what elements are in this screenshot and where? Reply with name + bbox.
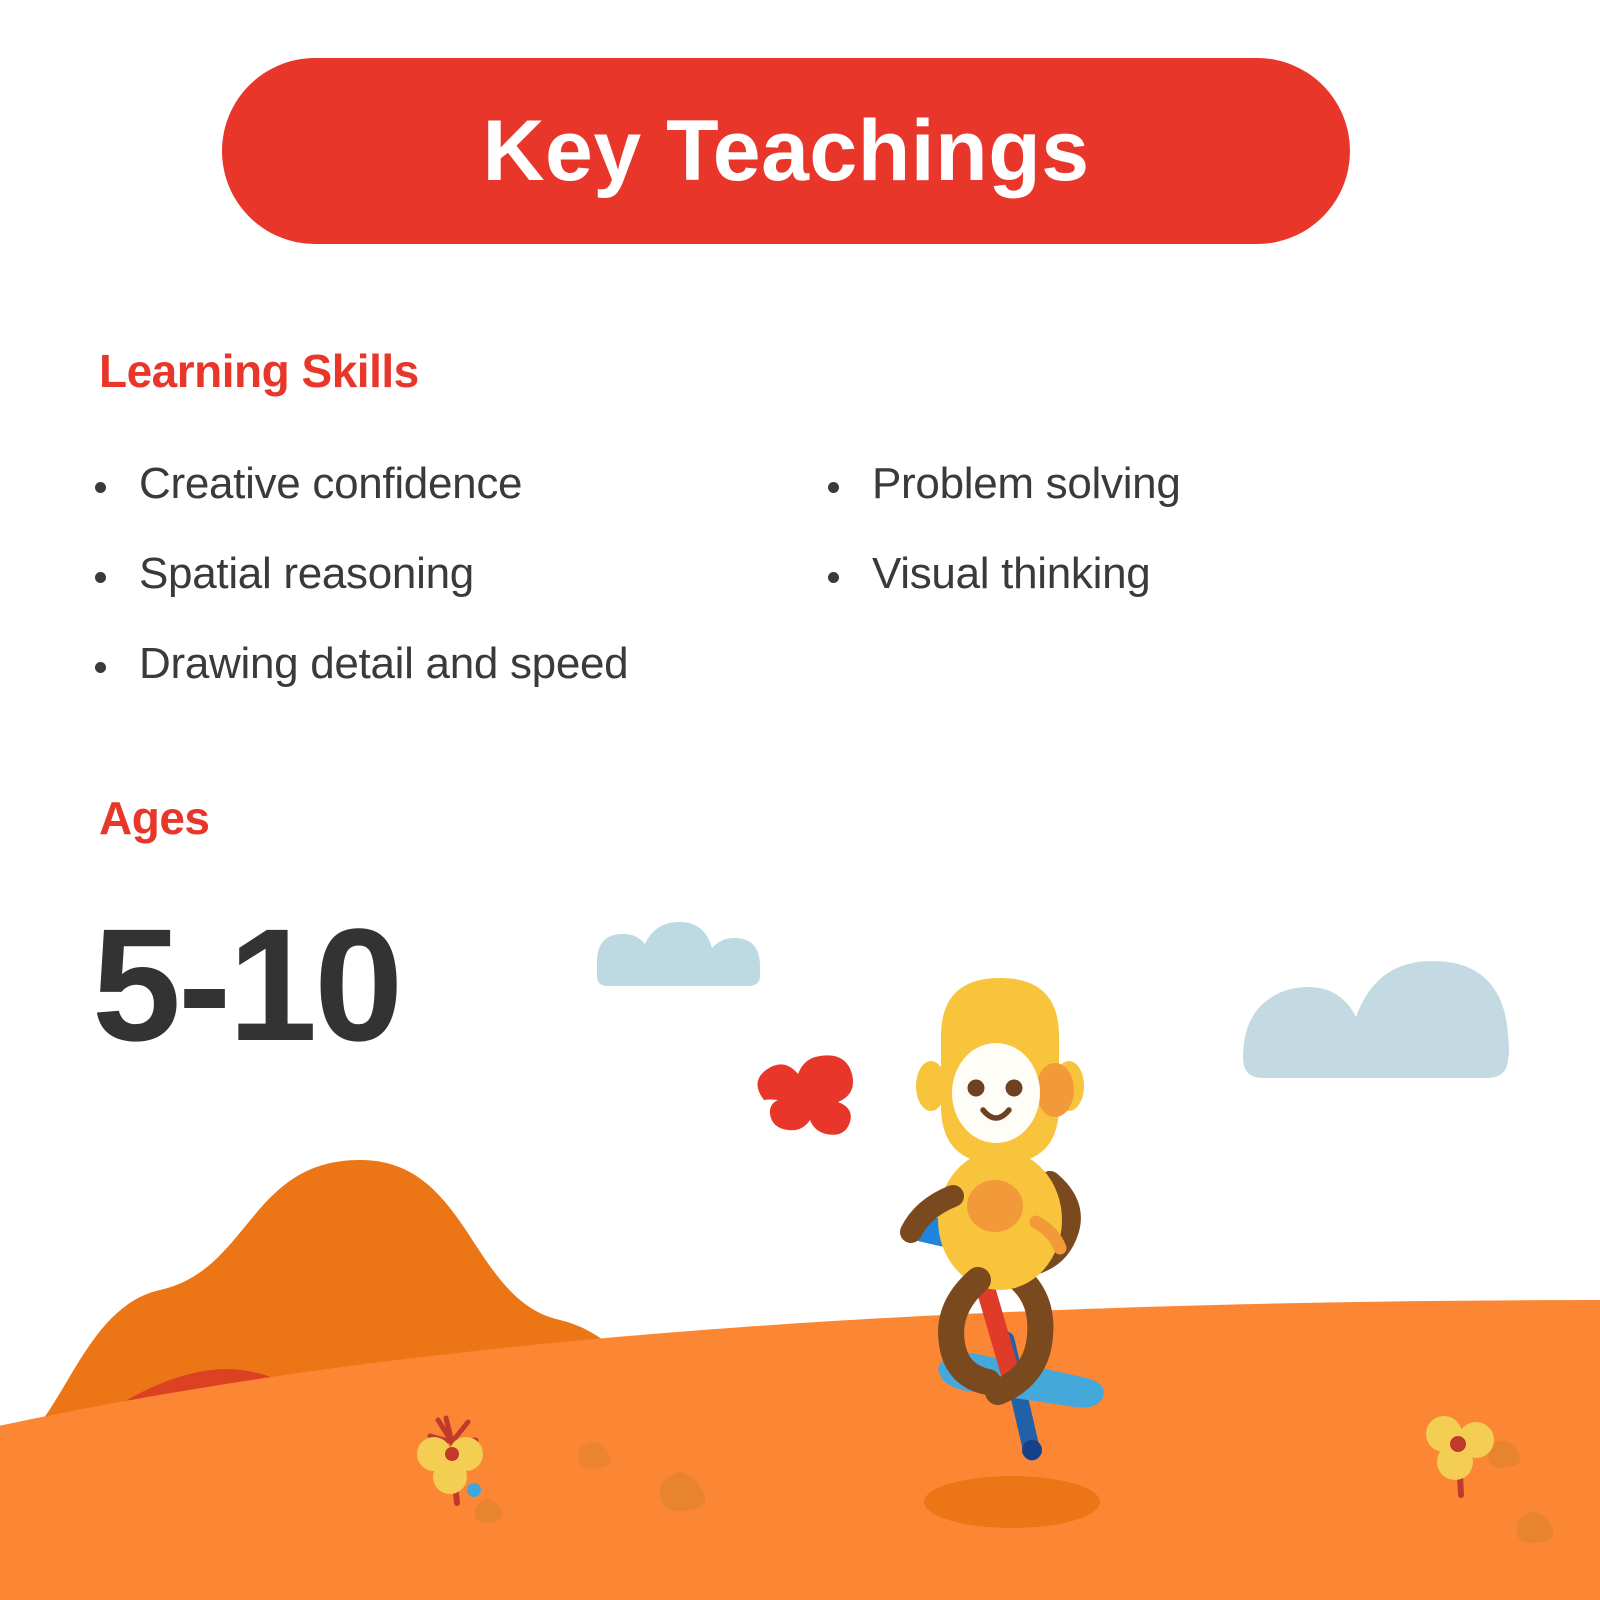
- character-eye-left: [968, 1080, 985, 1097]
- ages-value: 5-10: [92, 905, 400, 1065]
- bullet-dot-icon: [828, 572, 839, 583]
- ground: [0, 1300, 1600, 1600]
- list-item: Visual thinking: [828, 545, 1428, 603]
- ages-heading: Ages: [99, 795, 209, 841]
- character-shadow: [924, 1476, 1100, 1528]
- cloud-small-left: [597, 922, 760, 986]
- bullet-dot-icon: [95, 572, 106, 583]
- hill-orange-left: [0, 1160, 820, 1600]
- hill-orange-right: [1140, 1319, 1600, 1600]
- list-item-label: Creative confidence: [139, 455, 522, 513]
- learning-skills-list-right: Problem solving Visual thinking: [828, 455, 1428, 635]
- list-item-label: Visual thinking: [872, 545, 1150, 603]
- hill-red-left: [0, 1369, 500, 1600]
- flower-left: [417, 1418, 483, 1503]
- character: [911, 978, 1084, 1392]
- butterfly-icon: [757, 1055, 853, 1134]
- page-title: Key Teachings: [482, 108, 1089, 194]
- bullet-dot-icon: [95, 662, 106, 673]
- cloud-large-right: [1243, 961, 1509, 1078]
- list-item: Problem solving: [828, 455, 1428, 513]
- character-ear-accent: [1036, 1063, 1074, 1117]
- hill-red-right: [1480, 1420, 1600, 1600]
- flower-right: [1426, 1416, 1494, 1495]
- character-body-accent: [967, 1180, 1023, 1232]
- pogo-stick: [908, 1213, 1104, 1460]
- list-item-label: Drawing detail and speed: [139, 635, 628, 693]
- pebbles: [475, 1441, 1553, 1543]
- character-body: [938, 1150, 1062, 1290]
- learning-skills-heading: Learning Skills: [99, 348, 419, 394]
- learning-skills-list-left: Creative confidence Spatial reasoning Dr…: [95, 455, 795, 725]
- list-item: Drawing detail and speed: [95, 635, 795, 693]
- list-item-label: Problem solving: [872, 455, 1181, 513]
- character-face: [952, 1043, 1040, 1143]
- bullet-dot-icon: [95, 482, 106, 493]
- character-mouth: [983, 1110, 1009, 1118]
- key-teachings-banner: Key Teachings: [222, 58, 1350, 244]
- list-item: Creative confidence: [95, 455, 795, 513]
- list-item: Spatial reasoning: [95, 545, 795, 603]
- bullet-dot-icon: [828, 482, 839, 493]
- character-eye-right: [1006, 1080, 1023, 1097]
- list-item-label: Spatial reasoning: [139, 545, 474, 603]
